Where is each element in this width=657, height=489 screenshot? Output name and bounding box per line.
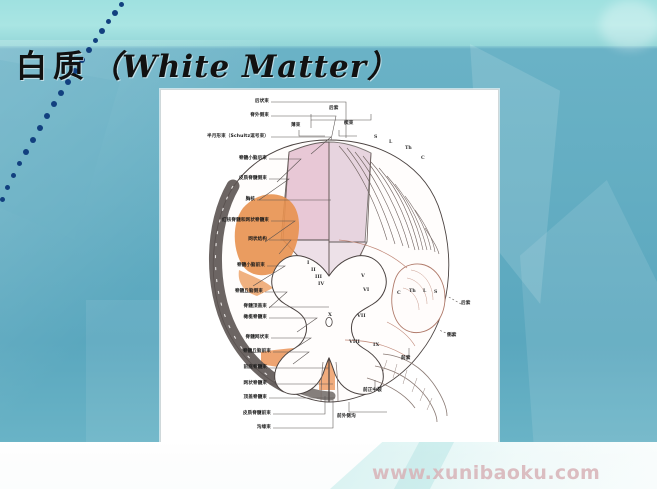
diagram-label-left-4: 皮质脊髓侧束 bbox=[167, 176, 267, 182]
somatotopy-top-l: L bbox=[389, 140, 392, 145]
lamina-label-i: I bbox=[307, 260, 309, 266]
site-watermark: www.xunibaoku.com bbox=[372, 462, 654, 486]
diagram-inner: 后状束 脊外侧束 半月形束（Schultz逗号束） 脊髓小脑后束 皮质脊髓侧束 … bbox=[161, 90, 498, 443]
diagram-label-left-13: 脊髓丘脑前束 bbox=[167, 349, 271, 355]
lamina-label-vii: VII bbox=[357, 313, 366, 319]
diagram-label-bottom-1: 前正中裂 bbox=[363, 388, 382, 394]
background-glow bbox=[600, 0, 657, 50]
diagram-label-cuneate-fasciculus: 楔束 bbox=[344, 121, 353, 127]
diagram-label-left-10: 脊髓顶盖束 bbox=[167, 304, 267, 310]
somatotopy-mid-l: L bbox=[423, 289, 426, 294]
spinal-cord-diagram-panel: 后状束 脊外侧束 半月形束（Schultz逗号束） 脊髓小脑后束 皮质脊髓侧束 … bbox=[160, 89, 499, 444]
somatotopy-top-c: C bbox=[421, 156, 425, 161]
diagram-label-left-17: 皮质脊髓前束 bbox=[167, 411, 271, 417]
lamina-label-x: X bbox=[328, 312, 332, 318]
diagram-label-left-11: 橄榄脊髓束 bbox=[167, 315, 267, 321]
lamina-label-vi: VI bbox=[363, 287, 369, 293]
somatotopy-top-s: S bbox=[374, 135, 377, 140]
somatotopy-mid-th: Th bbox=[409, 289, 416, 294]
diagram-label-posterior-funiculus: 后索 bbox=[329, 106, 338, 112]
diagram-label-gracile-fasciculus: 薄束 bbox=[291, 123, 300, 129]
diagram-label-left-18: 沟缘束 bbox=[167, 425, 271, 431]
slide-title-en: （White Matter） bbox=[90, 49, 399, 85]
lamina-label-ix: IX bbox=[373, 342, 379, 348]
diagram-label-left-12: 脊髓网状束 bbox=[167, 335, 269, 341]
slide-title: 白质（White Matter） bbox=[16, 44, 356, 90]
diagram-label-bottom-2: 前外侧沟 bbox=[337, 414, 356, 420]
slide-title-cn: 白质 bbox=[16, 49, 90, 85]
lamina-label-viii: VIII bbox=[349, 339, 360, 345]
diagram-label-left-0: 后状束 bbox=[167, 99, 269, 105]
diagram-label-left-14: 前庭脊髓束 bbox=[167, 365, 267, 371]
somatotopy-top-th: Th bbox=[405, 146, 412, 151]
lamina-label-iii: III bbox=[315, 274, 322, 280]
diagram-label-left-7: 网状结构 bbox=[167, 237, 267, 243]
slide-canvas: 白质（White Matter） bbox=[0, 0, 657, 489]
diagram-label-right-1: 侧索 bbox=[447, 333, 456, 339]
diagram-label-left-9: 脊髓丘脑侧束 bbox=[167, 289, 263, 295]
diagram-label-left-3: 脊髓小脑后束 bbox=[167, 156, 267, 162]
diagram-label-left-1: 脊外侧束 bbox=[167, 113, 269, 119]
diagram-label-left-5: 胸核 bbox=[167, 197, 255, 203]
diagram-label-left-16: 顶盖脊髓束 bbox=[167, 395, 267, 401]
diagram-label-left-6: 红核脊髓和网状脊髓束 bbox=[161, 218, 269, 224]
somatotopy-mid-c: C bbox=[397, 291, 401, 296]
lamina-label-ii: II bbox=[311, 267, 316, 273]
diagram-label-left-15: 网状脊髓束 bbox=[167, 381, 267, 387]
diagram-label-bottom-0: 前索 bbox=[401, 356, 410, 362]
lamina-label-v: V bbox=[361, 273, 365, 279]
somatotopy-mid-s: S bbox=[434, 290, 437, 295]
diagram-label-left-8: 脊髓小脑前束 bbox=[167, 263, 265, 269]
lamina-label-iv: IV bbox=[318, 281, 324, 287]
diagram-label-right-0: 后索 bbox=[461, 301, 470, 307]
diagram-label-left-2: 半月形束（Schultz逗号束） bbox=[161, 134, 269, 140]
